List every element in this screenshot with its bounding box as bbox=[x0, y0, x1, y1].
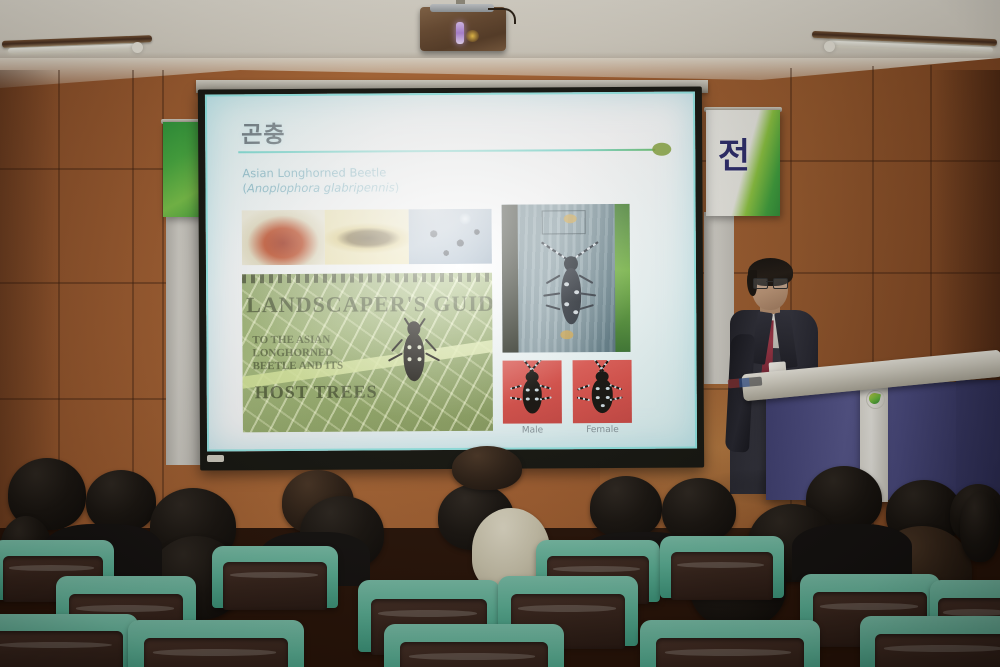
seat-sheen bbox=[153, 649, 276, 655]
projected-slide: 곤충 Asian Longhorned Beetle (Anoplophora … bbox=[205, 92, 697, 452]
projector-top-plate bbox=[430, 4, 494, 12]
beetle-body bbox=[403, 333, 424, 381]
beetle-spot bbox=[601, 404, 605, 407]
projector-lens bbox=[456, 22, 464, 44]
photo-landscapers-guide-poster: LANDSCAPER'S GUIDE TO THE ASIAN LONGHORN… bbox=[242, 273, 493, 433]
audience-seat[interactable] bbox=[860, 616, 1000, 667]
seat-back bbox=[671, 552, 773, 600]
photo-bark-exit-holes bbox=[408, 209, 492, 265]
seat-sheen bbox=[665, 649, 791, 655]
female-beetle-illustration bbox=[585, 368, 620, 418]
female-label: Female bbox=[573, 425, 632, 435]
beetle-leg bbox=[543, 292, 560, 296]
trunk-right-foliage bbox=[615, 204, 631, 352]
beetle-leg bbox=[577, 397, 590, 402]
trunk-left-dark-edge bbox=[502, 205, 519, 353]
audience-seating bbox=[0, 440, 1000, 667]
poster-beetle-illustration bbox=[394, 315, 432, 389]
beetle-spot bbox=[407, 345, 411, 349]
beetle-body bbox=[561, 268, 581, 324]
beetle-on-trunk bbox=[546, 246, 595, 334]
beetle-leg bbox=[510, 385, 522, 390]
beetle-leg bbox=[579, 274, 594, 284]
photo-maple-leaf-damage bbox=[242, 210, 326, 266]
audience-head bbox=[86, 470, 156, 532]
species-binomial: Anoplophora glabripennis bbox=[247, 180, 395, 195]
seat-sheen bbox=[820, 603, 918, 609]
beetle-spot bbox=[417, 345, 421, 349]
beetle-spot bbox=[564, 302, 569, 306]
seat-sheen bbox=[884, 645, 1000, 651]
audience-seat[interactable] bbox=[128, 620, 304, 667]
photo-beetle-larva bbox=[325, 209, 409, 265]
seat-sheen bbox=[518, 605, 616, 611]
slide-title-rule bbox=[238, 149, 655, 154]
male-label: Male bbox=[503, 425, 562, 435]
paren-close: ) bbox=[395, 180, 400, 194]
slide-title: 곤충 bbox=[241, 115, 286, 149]
seat-sheen bbox=[0, 642, 112, 648]
trunk-yellow-mark bbox=[564, 214, 577, 223]
lecture-hall-photo: 전 곤충 Asian Longhorned Beetle (Anoplophor… bbox=[0, 0, 1000, 667]
audience-head bbox=[590, 476, 662, 538]
beetle-spot bbox=[535, 388, 539, 391]
seat-sheen bbox=[230, 572, 318, 578]
beetle-leg bbox=[577, 384, 590, 390]
slide-subtitle: Asian Longhorned Beetle (Anoplophora gla… bbox=[242, 165, 399, 196]
beetle-spot bbox=[606, 387, 610, 390]
beetle-leg bbox=[579, 292, 596, 296]
slide-title-dot bbox=[652, 143, 671, 156]
slide-subtitle-scientific-name: (Anoplophora glabripennis) bbox=[242, 180, 399, 196]
light-cap-left bbox=[132, 42, 143, 53]
audience-head bbox=[960, 492, 1000, 562]
photo-beetle-on-tree-trunk bbox=[502, 204, 631, 353]
audience-seat[interactable] bbox=[0, 614, 138, 667]
beetle-leg bbox=[425, 338, 437, 351]
slide-subtitle-common-name: Asian Longhorned Beetle bbox=[242, 165, 399, 181]
seat-back bbox=[223, 562, 326, 610]
seat-sheen bbox=[943, 609, 1000, 615]
audience-shoulders bbox=[792, 524, 912, 580]
seat-sheen bbox=[677, 562, 764, 568]
male-beetle-illustration bbox=[515, 368, 550, 418]
glasses-lens-left bbox=[753, 278, 768, 289]
poster-footer: HOST TREES bbox=[255, 381, 378, 403]
audience-seat[interactable] bbox=[384, 624, 564, 667]
eyeglasses-icon bbox=[753, 278, 786, 287]
beetle-leg bbox=[391, 339, 403, 352]
beetle-spot bbox=[526, 389, 530, 392]
audience-head bbox=[662, 478, 736, 542]
poster-top-band bbox=[242, 273, 492, 284]
beetle-spot bbox=[408, 357, 412, 361]
photo-strip bbox=[242, 209, 492, 266]
projector-indicator-glow bbox=[466, 30, 479, 42]
seat-sheen bbox=[9, 565, 94, 570]
beetle-spot bbox=[596, 396, 600, 399]
beetle-spot bbox=[596, 387, 600, 390]
light-cap-right bbox=[824, 41, 835, 52]
seat-back bbox=[0, 631, 123, 667]
seat-sheen bbox=[378, 610, 477, 616]
glasses-lens-right bbox=[773, 278, 788, 289]
beetle-spot bbox=[535, 397, 539, 400]
trunk-marked-patch bbox=[542, 210, 586, 234]
beetle-leg bbox=[510, 397, 522, 401]
beetle-spot bbox=[573, 310, 578, 314]
glasses-bridge bbox=[766, 281, 773, 282]
audience-head bbox=[452, 446, 522, 490]
projector-cable bbox=[488, 8, 516, 24]
beetle-spot bbox=[564, 282, 569, 286]
audience-seat[interactable] bbox=[212, 546, 338, 608]
beetle-leg bbox=[579, 304, 594, 310]
photo-beetle-female bbox=[573, 360, 632, 423]
photo-beetle-male bbox=[503, 360, 562, 423]
audience-seat[interactable] bbox=[660, 536, 784, 598]
beetle-leg bbox=[546, 274, 561, 284]
seat-sheen bbox=[553, 566, 640, 572]
beetle-spot bbox=[526, 398, 530, 401]
banner-right-label: 전 bbox=[710, 140, 758, 175]
audience-seat[interactable] bbox=[640, 620, 820, 667]
wall-pilaster-left bbox=[166, 215, 202, 465]
poster-subheading: TO THE ASIAN LONGHORNED BEETLE AND ITS bbox=[252, 333, 372, 373]
seat-sheen bbox=[76, 605, 174, 611]
poster-heading: LANDSCAPER'S GUIDE bbox=[246, 291, 490, 318]
seat-sheen bbox=[409, 653, 535, 659]
beetle-spot bbox=[418, 357, 422, 361]
beetle-leg bbox=[546, 304, 561, 310]
